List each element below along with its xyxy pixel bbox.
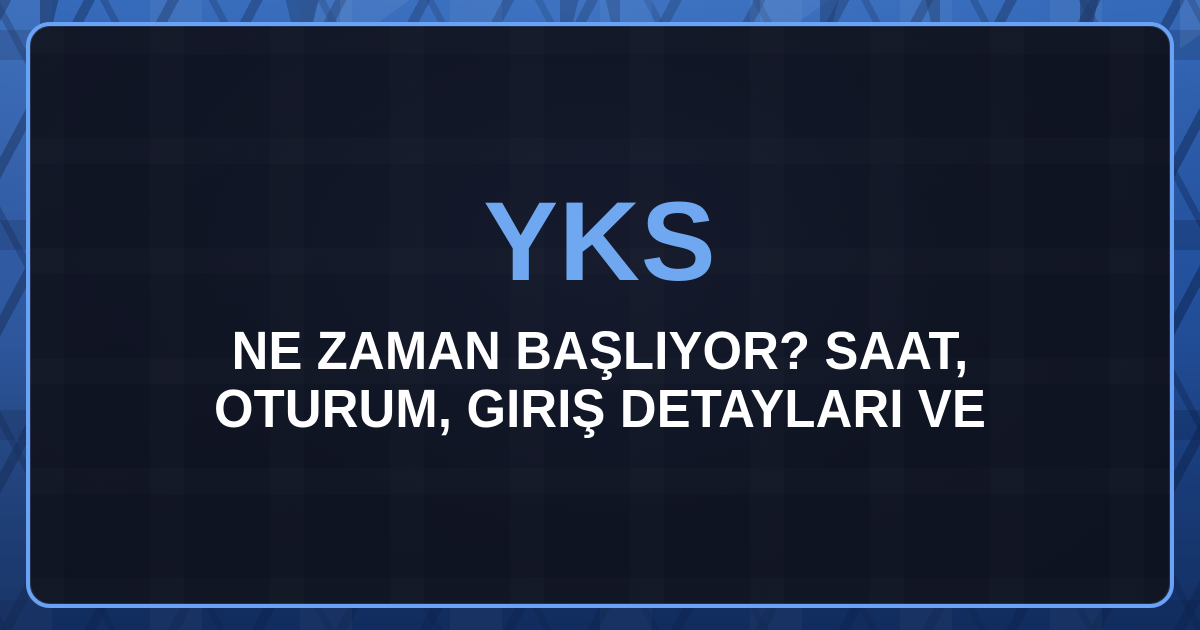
page-title: YKS: [70, 186, 1130, 298]
card-content: YKS NE ZAMAN BAŞLIYOR? SAAT, OTURUM, GIR…: [30, 26, 1170, 439]
poster-canvas: YKS NE ZAMAN BAŞLIYOR? SAAT, OTURUM, GIR…: [0, 0, 1200, 630]
content-card: YKS NE ZAMAN BAŞLIYOR? SAAT, OTURUM, GIR…: [26, 22, 1174, 608]
page-subtitle: NE ZAMAN BAŞLIYOR? SAAT, OTURUM, GIRIŞ D…: [177, 322, 1023, 439]
